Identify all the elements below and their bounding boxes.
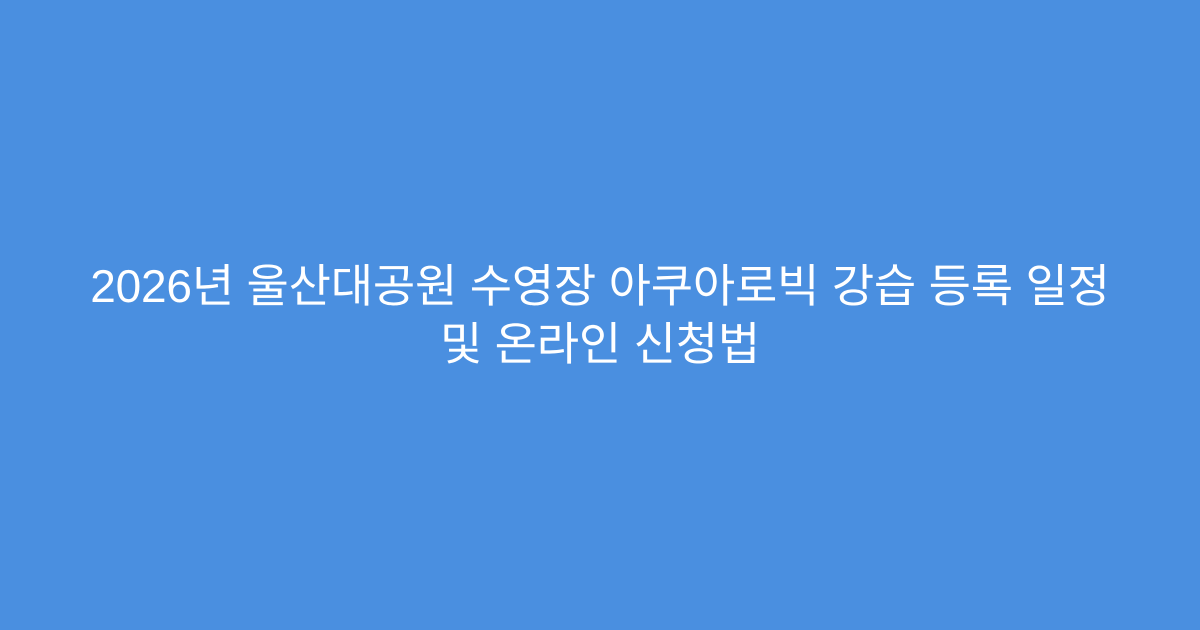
title-block: 2026년 울산대공원 수영장 아쿠아로빅 강습 등록 일정 및 온라인 신청법 — [50, 257, 1150, 374]
page-title: 2026년 울산대공원 수영장 아쿠아로빅 강습 등록 일정 및 온라인 신청법 — [76, 257, 1124, 374]
og-card: 2026년 울산대공원 수영장 아쿠아로빅 강습 등록 일정 및 온라인 신청법 — [0, 0, 1200, 630]
